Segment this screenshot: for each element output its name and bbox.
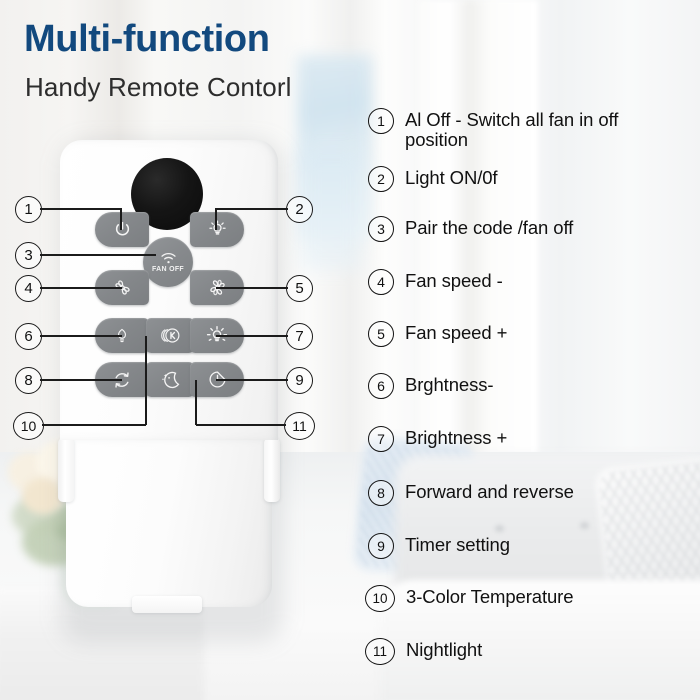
legend-text-4: Fan speed - [405, 269, 503, 291]
holder-tab-left [58, 438, 74, 502]
pair-fan-off-button[interactable]: FAN OFF [143, 237, 193, 287]
callout-line-10-riser [145, 336, 147, 425]
callout-line-5 [216, 287, 288, 289]
callout-line-1-drop [120, 208, 122, 230]
fan-off-label: FAN OFF [152, 266, 184, 273]
callout-number-5: 5 [286, 275, 313, 302]
legend-text-5: Fan speed + [405, 321, 507, 343]
legend-item-7: 7 Brightness + [368, 426, 507, 452]
callout-line-11 [196, 424, 286, 426]
background-sofa-tuft [580, 522, 589, 529]
legend-item-3: 3 Pair the code /fan off [368, 216, 573, 242]
color-temperature-button[interactable] [146, 318, 194, 353]
legend-number-1: 1 [368, 108, 394, 134]
callout-number-8: 8 [15, 367, 42, 394]
legend-number-4: 4 [368, 269, 394, 295]
callout-number-1: 1 [15, 196, 42, 223]
legend-text-9: Timer setting [405, 533, 510, 555]
power-button[interactable] [95, 212, 149, 247]
legend-text-10: 3-Color Temperature [406, 585, 573, 607]
page-subtitle: Handy Remote Contorl [25, 74, 291, 100]
callout-line-11-riser [195, 380, 197, 425]
legend-item-5: 5 Fan speed + [368, 321, 507, 347]
legend-text-3: Pair the code /fan off [405, 216, 573, 238]
callout-line-2-drop [215, 208, 217, 230]
legend-text-7: Brightness + [405, 426, 507, 448]
wifi-signal-icon [159, 252, 178, 265]
callout-line-8 [40, 379, 122, 381]
callout-line-9 [216, 379, 288, 381]
holder-tab-bottom [132, 596, 202, 613]
legend-number-11: 11 [365, 638, 395, 665]
legend-item-6: 6 Brghtness- [368, 373, 493, 399]
callout-line-4 [40, 287, 122, 289]
page-title: Multi-function [24, 20, 270, 58]
legend-text-1: Al Off - Switch all fan in off position [405, 108, 675, 150]
legend-number-3: 3 [368, 216, 394, 242]
callout-number-7: 7 [286, 323, 313, 350]
nightlight-button[interactable] [146, 362, 194, 397]
legend-text-6: Brghtness- [405, 373, 493, 395]
callout-number-9: 9 [286, 367, 313, 394]
legend-number-7: 7 [368, 426, 394, 452]
holder-tab-right [264, 438, 280, 502]
kelvin-k-icon [157, 326, 183, 345]
legend-item-2: 2 Light ON/0f [368, 166, 497, 192]
callout-number-3: 3 [15, 242, 42, 269]
legend-item-11: 11 Nightlight [365, 638, 482, 665]
background-sofa-tuft [495, 525, 504, 532]
callout-line-1 [40, 208, 122, 210]
infographic-stage: Multi-function Handy Remote Contorl FAN … [0, 0, 700, 700]
moon-stars-icon [158, 370, 183, 390]
callout-line-6 [40, 335, 122, 337]
background-knit-cushion-texture [598, 460, 700, 592]
remote-wall-holder [66, 440, 272, 607]
legend-text-8: Forward and reverse [405, 480, 574, 502]
callout-line-3 [40, 254, 156, 256]
callout-number-10: 10 [13, 412, 44, 440]
legend-number-8: 8 [368, 480, 394, 506]
legend-item-1: 1 Al Off - Switch all fan in off positio… [368, 108, 675, 150]
callout-line-2 [216, 208, 288, 210]
callout-number-2: 2 [286, 196, 313, 223]
legend-item-8: 8 Forward and reverse [368, 480, 574, 506]
legend-number-5: 5 [368, 321, 394, 347]
callout-line-7 [216, 335, 288, 337]
legend-item-10: 10 3-Color Temperature [365, 585, 573, 612]
callout-number-6: 6 [15, 323, 42, 350]
legend-text-2: Light ON/0f [405, 166, 497, 188]
callout-line-10 [42, 424, 146, 426]
callout-number-11: 11 [284, 412, 315, 440]
legend-number-2: 2 [368, 166, 394, 192]
callout-number-4: 4 [15, 275, 42, 302]
power-icon [113, 220, 132, 239]
legend-item-9: 9 Timer setting [368, 533, 510, 559]
legend-item-4: 4 Fan speed - [368, 269, 503, 295]
legend-number-9: 9 [368, 533, 394, 559]
bulb-icon [207, 219, 228, 240]
legend-number-6: 6 [368, 373, 394, 399]
legend-text-11: Nightlight [406, 638, 482, 660]
light-button[interactable] [190, 212, 244, 247]
legend-number-10: 10 [365, 585, 395, 612]
